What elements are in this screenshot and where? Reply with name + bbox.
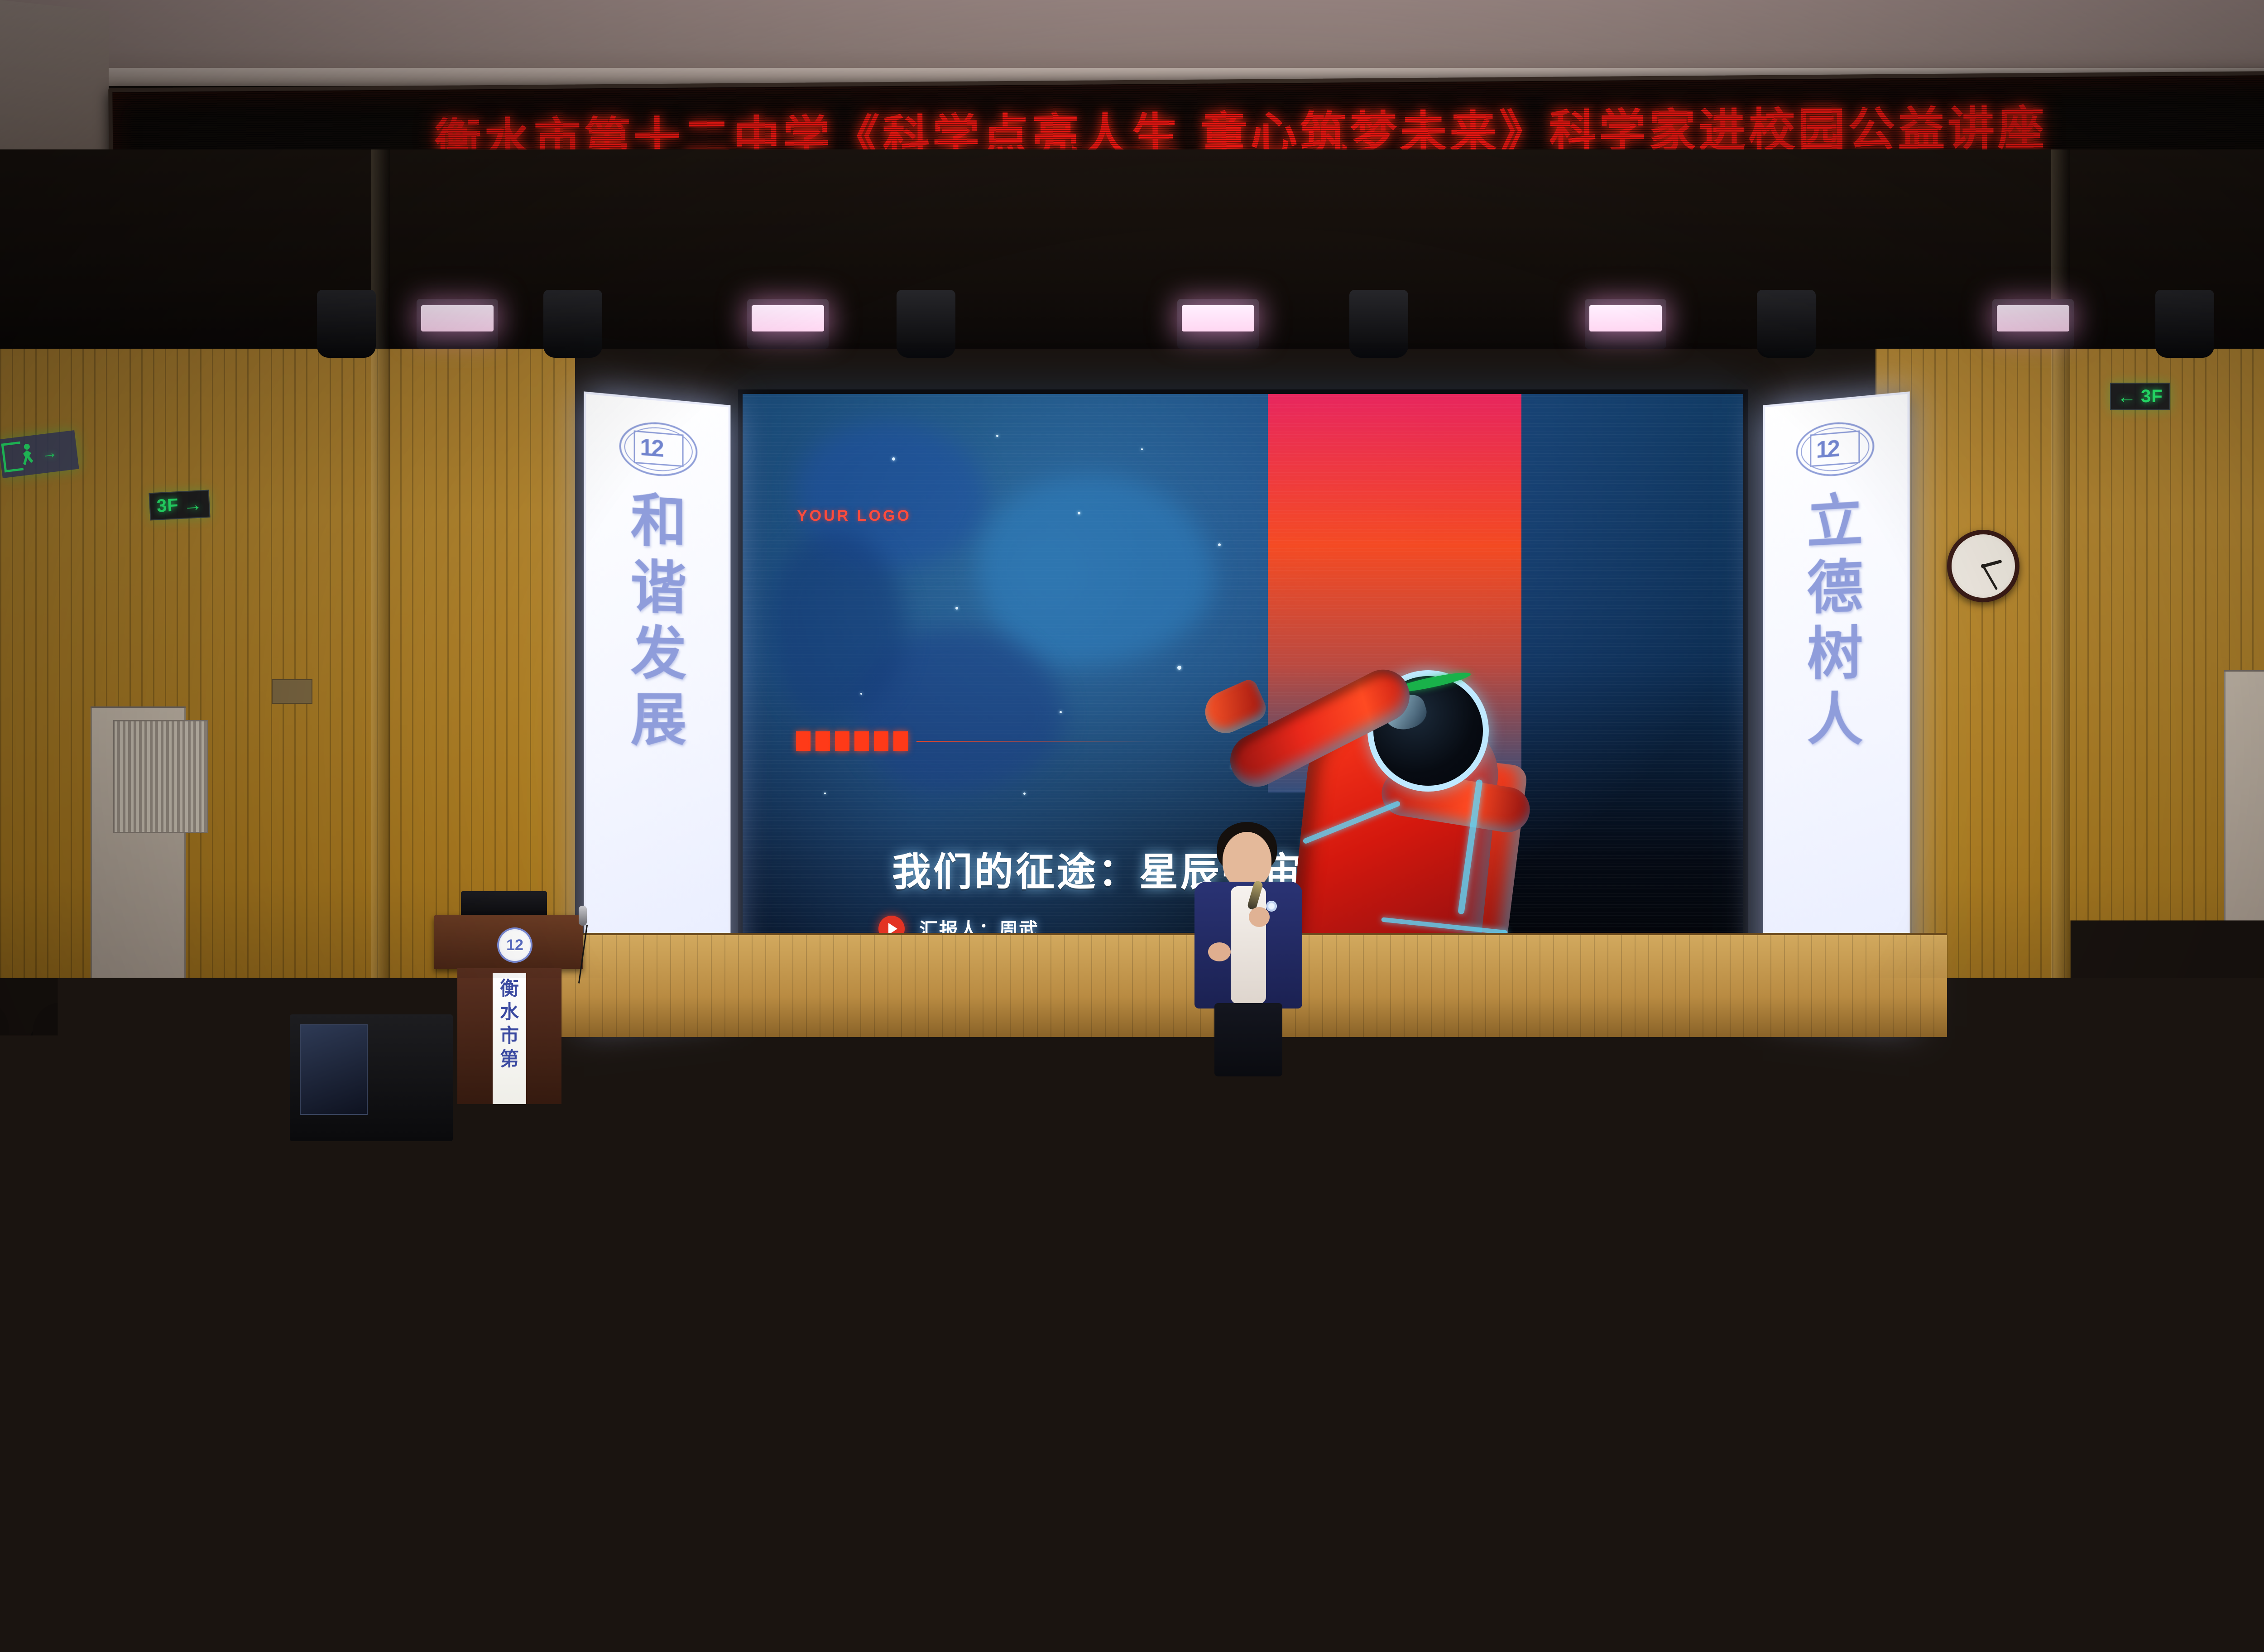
student-hair	[283, 1086, 353, 1161]
audience-student	[729, 1187, 811, 1276]
audience-student	[1094, 1087, 1157, 1155]
audience-student	[1594, 1323, 1680, 1417]
rail-post	[118, 1053, 133, 1089]
student-hair	[153, 1188, 221, 1262]
audience-student	[925, 1193, 997, 1271]
audience-student	[1896, 1088, 1966, 1162]
ponytail	[2221, 1046, 2239, 1079]
ponytail	[1053, 1394, 1087, 1457]
rail-post	[634, 1285, 649, 1321]
rail-post	[1748, 1158, 1763, 1194]
rollup-banner-right: 12 立 德 树 人	[1763, 391, 1910, 1021]
audience-student	[981, 1479, 1107, 1615]
audience-student	[505, 1006, 555, 1060]
student-hair	[441, 1187, 524, 1277]
audience-student	[537, 1480, 641, 1593]
audience-student	[1837, 1326, 1929, 1425]
audience-student	[33, 1003, 88, 1062]
rail-post	[254, 1053, 269, 1089]
audience-student	[1337, 1085, 1399, 1153]
ponytail	[2028, 1579, 2067, 1652]
audience-student	[637, 1194, 709, 1272]
stage-light	[417, 299, 498, 349]
ponytail	[1168, 1570, 1208, 1644]
rail-post	[1530, 1439, 1546, 1474]
audience-student	[1976, 1188, 2050, 1268]
rail-post	[1069, 1285, 1084, 1321]
audience-student	[2172, 1195, 2250, 1279]
rail-post	[933, 1053, 948, 1089]
audience-student	[1502, 1192, 1572, 1268]
student-hair	[1653, 1089, 1710, 1151]
banner-right-characters: 立 德 树 人	[1807, 492, 1863, 747]
audience-student	[1390, 1005, 1445, 1065]
student-hair	[832, 1190, 909, 1273]
rail-post	[512, 1158, 527, 1194]
audience-student	[685, 1480, 804, 1609]
audience-student	[254, 1481, 374, 1611]
student-hair	[777, 1325, 871, 1428]
ponytail	[341, 1385, 369, 1437]
rail-post	[1612, 1053, 1627, 1089]
audience-student	[446, 1088, 506, 1153]
student-hair	[1252, 1004, 1304, 1061]
audience-student	[153, 1188, 221, 1262]
student-hair	[1862, 1002, 1913, 1057]
audience-student	[1111, 1190, 1187, 1272]
audience-student	[1842, 1490, 1966, 1623]
student-hair	[1883, 1195, 1962, 1281]
auditorium-scene: 衡水市第十二中学《科学点亮人生 童心筑梦未来》科学家进校园公益讲座 → 3F →…	[0, 0, 2264, 1652]
audience-student	[1883, 1195, 1962, 1281]
floor-sign-left: 3F →	[149, 490, 210, 521]
audience-student	[898, 1327, 987, 1422]
audience-student	[2138, 1489, 2245, 1605]
floor-label: 3F	[2141, 386, 2163, 407]
audience-student	[2139, 1086, 2208, 1160]
audience-student	[1306, 1186, 1387, 1273]
audience-student	[1252, 1319, 1339, 1413]
slide-dash-decoration	[796, 731, 1152, 751]
audience-student	[1815, 1083, 1876, 1148]
rail-post	[1924, 1158, 1940, 1194]
ponytail	[2078, 1136, 2099, 1174]
audience-student	[1324, 1005, 1372, 1057]
ponytail	[1748, 1401, 1782, 1463]
banner-char: 和	[631, 492, 687, 550]
audience-student	[1418, 1090, 1476, 1153]
audience-student	[1990, 1489, 2106, 1614]
audience-student	[1175, 1084, 1233, 1147]
student-hair	[981, 1479, 1107, 1615]
rail-post	[2101, 1158, 2116, 1194]
student-hair	[81, 1317, 177, 1421]
audience-student	[1484, 1322, 1577, 1422]
student-hair	[1896, 1088, 1966, 1162]
wall-vent	[113, 720, 208, 833]
audience-student	[911, 1002, 961, 1055]
ponytail	[1237, 1248, 1261, 1292]
rail-post	[851, 1285, 867, 1321]
audience-student	[545, 1323, 634, 1419]
student-hair	[1528, 1006, 1586, 1069]
audience-student	[833, 1479, 944, 1599]
audience-student	[1977, 1085, 2042, 1154]
student-hair	[1947, 1327, 2033, 1420]
student-hair	[1491, 1087, 1557, 1158]
student-hair	[1456, 1006, 1507, 1061]
audience-student	[98, 1003, 149, 1058]
rail-post	[1748, 1053, 1763, 1089]
student-hair	[544, 1191, 621, 1274]
audience-student	[1129, 1479, 1247, 1606]
presenter-head	[1223, 832, 1271, 889]
audience-student	[121, 1084, 187, 1155]
student-hair	[1399, 1189, 1474, 1271]
rail-post	[1571, 1158, 1587, 1194]
student-hair	[1252, 1319, 1339, 1413]
student-hair	[537, 1480, 641, 1593]
audience-student	[2058, 1090, 2119, 1155]
crest-mark-label: 12	[1816, 437, 1838, 462]
student-hair	[2139, 1086, 2208, 1160]
audience-student	[202, 1089, 263, 1155]
audience-student	[2000, 1003, 2053, 1061]
banner-char: 立	[1807, 492, 1863, 550]
student-hair	[1708, 1490, 1816, 1608]
audience-student	[708, 1007, 758, 1061]
clock-minute-hand	[1982, 566, 1998, 590]
audience-student	[170, 1004, 229, 1066]
ponytail	[386, 1133, 408, 1173]
audience-student	[1595, 1196, 1674, 1282]
wall-clock	[1947, 530, 2019, 602]
audience-student	[983, 1003, 1040, 1063]
banner-left-characters: 和 谐 发 展	[631, 492, 687, 747]
student-hair	[255, 1191, 334, 1276]
audience-student	[255, 1191, 334, 1276]
audience-student	[1013, 1090, 1080, 1162]
student-hair	[1306, 1186, 1387, 1273]
stage-light	[1992, 299, 2074, 349]
audience-student	[1491, 1087, 1557, 1158]
student-hair	[1018, 1186, 1099, 1274]
audience-student	[608, 1090, 672, 1159]
rail-post	[199, 1285, 215, 1321]
student-hair	[505, 1006, 555, 1060]
floor-label: 3F	[156, 495, 179, 516]
floor-sign-right: ← 3F	[2110, 383, 2170, 410]
stage-light	[747, 299, 829, 349]
student-hair	[1837, 1326, 1929, 1425]
audience-student	[60, 1195, 134, 1274]
banner-char: 人	[1807, 692, 1863, 747]
floor-arrow-icon: ←	[2117, 388, 2136, 406]
audience-student	[1411, 1491, 1536, 1626]
audience-student	[302, 1004, 352, 1059]
audience-student	[851, 1088, 914, 1157]
rail-post	[1340, 1053, 1356, 1089]
ponytail	[1835, 1130, 1856, 1168]
student-hair	[1263, 1492, 1373, 1610]
audience-student	[2179, 1318, 2264, 1417]
rail-post	[1286, 1285, 1301, 1321]
banner-char: 发	[631, 625, 687, 681]
student-hair	[203, 1319, 293, 1416]
audience-student	[1934, 1003, 1991, 1064]
presenter-lapel-pin	[1266, 901, 1277, 912]
audience-student	[1399, 1189, 1474, 1271]
audience-student	[1653, 1089, 1710, 1151]
clock-center-dot	[1981, 564, 1986, 568]
student-hair	[1659, 1007, 1710, 1062]
student-hair	[898, 1327, 987, 1422]
student-hair	[2172, 1195, 2250, 1279]
student-hair	[33, 1003, 88, 1062]
student-hair	[1484, 1322, 1577, 1422]
stage-light	[1585, 299, 1666, 349]
audience-student	[667, 1324, 767, 1433]
ponytail	[1002, 1046, 1021, 1081]
audience-student	[313, 1320, 397, 1410]
student-hair	[911, 1002, 961, 1055]
student-hair	[833, 1479, 944, 1599]
ponytail	[629, 1139, 651, 1180]
rail-post	[1884, 1053, 1899, 1089]
audience-student	[1528, 1006, 1586, 1069]
student-hair	[2138, 1489, 2245, 1605]
ponytail	[84, 1252, 109, 1298]
audience-student	[1362, 1321, 1461, 1428]
audience-student	[1659, 1007, 1710, 1062]
rail-post	[2047, 1439, 2062, 1474]
audience-student	[203, 1319, 293, 1416]
audience-student	[2069, 1317, 2167, 1422]
audience-student	[1214, 1193, 1284, 1269]
ponytail	[1115, 1136, 1136, 1175]
rail-post	[1069, 1053, 1084, 1089]
audience-student	[2079, 1191, 2147, 1265]
audience-student	[846, 1008, 899, 1065]
ponytail	[189, 1049, 209, 1085]
student-hair	[1175, 1084, 1233, 1147]
rail-post	[335, 1158, 350, 1194]
lectern-top: 12	[434, 915, 583, 969]
student-hair	[770, 1083, 838, 1157]
audience-student	[577, 1006, 634, 1068]
audience-student	[1716, 1325, 1814, 1431]
banner-char: 德	[1807, 559, 1863, 615]
audience-student	[402, 1481, 514, 1602]
student-hair	[1049, 1003, 1102, 1060]
audience-student	[1708, 1490, 1816, 1608]
rail-post	[417, 1285, 432, 1321]
wall-plate	[272, 679, 312, 704]
audience-student	[439, 1005, 493, 1064]
door-right[interactable]	[2224, 670, 2264, 1032]
ponytail	[2101, 1393, 2134, 1454]
student-hair	[1688, 1189, 1762, 1269]
ceiling-speaker	[2155, 290, 2214, 358]
ponytail	[1525, 1247, 1549, 1291]
ponytail	[2101, 1245, 2125, 1288]
exit-arrow-icon: →	[40, 444, 58, 461]
rail-post	[688, 1158, 704, 1194]
rail-post	[2019, 1053, 2035, 1089]
student-hair	[1595, 1196, 1674, 1282]
audience-student	[283, 1086, 353, 1161]
rail-post	[525, 1053, 541, 1089]
student-hair	[1324, 1005, 1372, 1057]
ponytail	[1395, 1398, 1429, 1460]
presenter-hand-right	[1249, 907, 1270, 927]
audience-student	[2072, 1004, 2122, 1057]
audience-student	[1121, 1004, 1170, 1056]
rail-post	[498, 1439, 513, 1474]
ponytail	[372, 1251, 397, 1297]
audience-student	[770, 1083, 838, 1157]
audience-student	[832, 1190, 909, 1273]
student-hair	[527, 1085, 595, 1158]
rail-post	[1938, 1285, 1953, 1321]
audience-student	[1734, 1086, 1799, 1157]
audience-student	[1559, 1491, 1676, 1617]
ponytail	[1814, 1050, 1833, 1084]
audience-student	[1018, 1186, 1099, 1274]
ceiling-speaker	[1349, 290, 1408, 358]
rail-post	[158, 1158, 174, 1194]
audience-student	[40, 1087, 97, 1149]
student-hair	[40, 1087, 97, 1149]
lectern-microphone	[579, 906, 587, 926]
audience-student	[1256, 1089, 1323, 1161]
rail-post	[1272, 1439, 1288, 1474]
student-hair	[1121, 1004, 1170, 1056]
student-hair	[1411, 1491, 1536, 1626]
ponytail	[1357, 1134, 1379, 1173]
rail-post	[2155, 1285, 2171, 1321]
ponytail	[596, 1051, 615, 1086]
rollup-banner-left: 12 和 谐 发 展	[584, 391, 730, 1021]
floor-arrow-icon: →	[183, 495, 203, 514]
student-hair	[1842, 1490, 1966, 1623]
ponytail	[1813, 1246, 1837, 1289]
student-hair	[1013, 1090, 1080, 1162]
rail-post	[1014, 1439, 1030, 1474]
rail-post	[1721, 1285, 1736, 1321]
student-hair	[1111, 1190, 1187, 1272]
student-hair	[545, 1323, 634, 1419]
audience-student	[1572, 1084, 1634, 1151]
rail-post	[1789, 1439, 1804, 1474]
student-hair	[729, 1187, 811, 1276]
school-crest-icon: 12	[1796, 419, 1875, 479]
crest-mark-label: 12	[640, 436, 662, 461]
rail-post	[865, 1158, 880, 1194]
banner-char: 谐	[631, 559, 687, 615]
ponytail	[949, 1249, 973, 1294]
audience-student	[777, 1325, 871, 1428]
ponytail	[294, 1575, 335, 1650]
student-hair	[1977, 1085, 2042, 1154]
student-hair	[1976, 1188, 2050, 1268]
running-man-icon	[18, 442, 39, 468]
banner-char: 展	[631, 692, 687, 747]
school-crest-icon: 12	[619, 419, 698, 479]
student-hair	[439, 1005, 493, 1064]
ponytail	[700, 1403, 734, 1466]
audience-student	[1252, 1004, 1304, 1061]
audience-student	[365, 1083, 429, 1153]
student-hair	[1734, 1086, 1799, 1157]
stage-light	[1177, 299, 1259, 349]
audience-student	[2203, 1004, 2256, 1061]
ceiling-speaker	[317, 290, 376, 358]
student-hair	[1256, 1089, 1323, 1161]
student-hair	[202, 1089, 263, 1155]
student-hair	[1594, 1323, 1680, 1417]
rail-post	[1476, 1053, 1492, 1089]
ceiling-speaker	[897, 290, 955, 358]
rail-post	[240, 1439, 255, 1474]
audience-student	[1130, 1318, 1224, 1419]
student-hair	[302, 1004, 352, 1059]
audience-student	[689, 1086, 748, 1151]
student-hair	[1934, 1003, 1991, 1064]
ceiling-panel-left	[0, 0, 109, 161]
audience-student	[1049, 1003, 1102, 1060]
rail-post	[1395, 1158, 1410, 1194]
student-hair	[1130, 1318, 1224, 1419]
clock-hour-hand	[1983, 560, 2002, 568]
student-hair	[932, 1085, 991, 1149]
ponytail	[724, 1572, 764, 1647]
audience-student	[932, 1085, 991, 1149]
ponytail	[1408, 1048, 1427, 1083]
audience-student	[348, 1194, 421, 1273]
student-hair	[2179, 1318, 2264, 1417]
audience-student	[106, 1482, 211, 1595]
audience-student	[1456, 1006, 1507, 1061]
audience-area	[0, 987, 2264, 1652]
audience-student	[1797, 1008, 1851, 1066]
ceiling-speaker	[543, 290, 602, 358]
audience-student	[1020, 1316, 1120, 1425]
audience-student	[435, 1321, 530, 1425]
slide-logo-text: YOUR LOGO	[797, 507, 911, 525]
ponytail	[1592, 1132, 1613, 1171]
ponytail	[1598, 1581, 1638, 1652]
audience-student	[1263, 1492, 1373, 1610]
lectern-crest-icon: 12	[497, 927, 532, 963]
audience-student	[81, 1317, 177, 1421]
rail-post	[2155, 1053, 2171, 1089]
student-hair	[689, 1086, 748, 1151]
audience-student	[1947, 1327, 2033, 1420]
audience-student	[544, 1191, 621, 1274]
audience-student	[527, 1085, 595, 1158]
student-hair	[435, 1321, 530, 1425]
audience-student	[1862, 1002, 1913, 1057]
rail-post	[1218, 1158, 1233, 1194]
student-hair	[98, 1003, 149, 1058]
student-hair	[106, 1482, 211, 1595]
audience-student	[1790, 1192, 1860, 1267]
banner-char: 树	[1807, 625, 1863, 681]
student-hair	[1418, 1090, 1476, 1153]
ceiling-speaker	[1757, 290, 1816, 358]
audience-student	[441, 1187, 524, 1277]
